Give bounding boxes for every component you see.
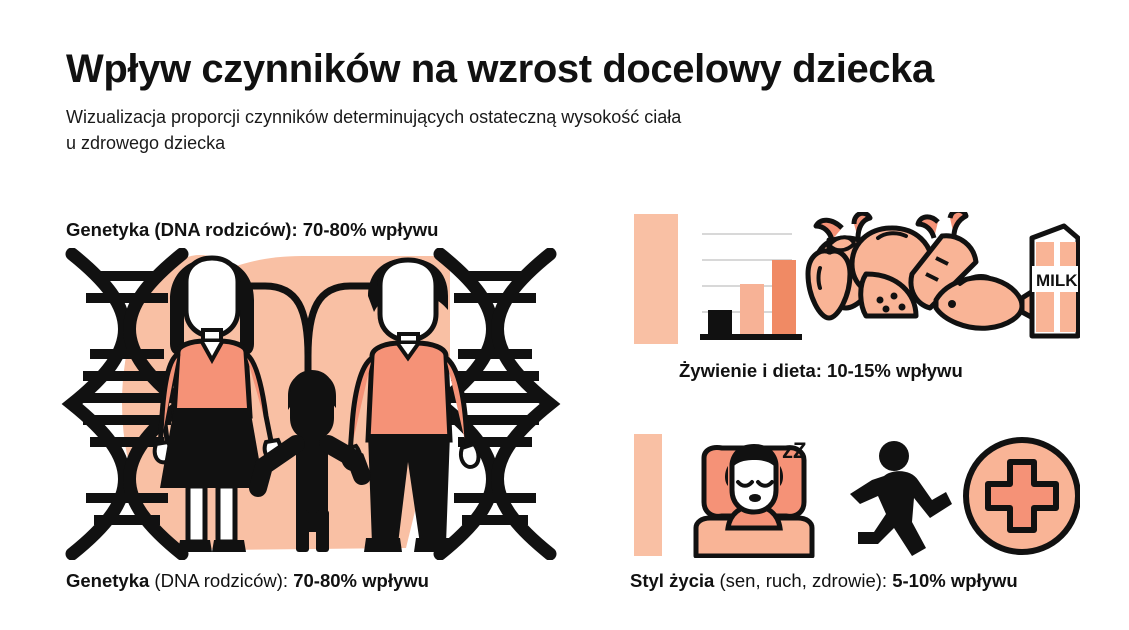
label-nutrition-text: Żywienie i dieta: 10-15% wpływu (679, 360, 963, 381)
nutrition-svg: MILK (630, 212, 1080, 352)
chart-bar-3 (772, 260, 796, 334)
lifestyle-proportion-bar (634, 434, 662, 556)
sleeping-child-icon: zZ (696, 438, 812, 556)
running-person-icon (850, 441, 952, 556)
milk-carton-icon: MILK (1032, 226, 1078, 336)
nutrition-inset-chart (700, 234, 802, 340)
label-lifestyle-tail: 5-10% wpływu (892, 570, 1017, 591)
chart-bar-2 (740, 284, 764, 334)
fish-icon (936, 276, 1044, 328)
illustration-lifestyle: zZ (630, 432, 1080, 558)
label-genetics-top-text: Genetyka (DNA rodziców): 70-80% wpływu (66, 219, 438, 240)
label-lifestyle: Styl życia (sen, ruch, zdrowie): 5-10% w… (630, 570, 1018, 592)
medical-cross-icon (966, 440, 1078, 552)
label-genetics-bottom-tail: 70-80% wpływu (293, 570, 429, 591)
illustration-nutrition: MILK (630, 212, 1080, 352)
label-genetics-bottom-mid: (DNA rodziców): (149, 570, 293, 591)
label-genetics-bottom-lead: Genetyka (66, 570, 149, 591)
label-nutrition: Żywienie i dieta: 10-15% wpływu (679, 360, 963, 382)
genetics-svg (50, 248, 570, 560)
page-subtitle: Wizualizacja proporcji czynników determi… (66, 105, 1076, 156)
label-lifestyle-mid: (sen, ruch, zdrowie): (714, 570, 892, 591)
nutrition-proportion-bar (634, 214, 678, 344)
subtitle-line-2: u zdrowego dziecka (66, 131, 1076, 157)
chart-bar-1 (708, 310, 732, 334)
infographic-page: Wpływ czynników na wzrost docelowy dziec… (0, 0, 1129, 630)
page-title: Wpływ czynników na wzrost docelowy dziec… (66, 48, 1076, 91)
label-genetics-top: Genetyka (DNA rodziców): 70-80% wpływu (66, 219, 438, 241)
label-lifestyle-lead: Styl życia (630, 570, 714, 591)
chart-baseline (700, 334, 802, 340)
label-genetics-bottom: Genetyka (DNA rodziców): 70-80% wpływu (66, 570, 429, 592)
milk-carton-label: MILK (1036, 271, 1078, 290)
sleep-zzz-label: zZ (782, 438, 806, 463)
subtitle-line-1: Wizualizacja proporcji czynników determi… (66, 105, 1076, 131)
lifestyle-svg: zZ (630, 432, 1080, 558)
header: Wpływ czynników na wzrost docelowy dziec… (66, 48, 1076, 156)
illustration-genetics (50, 248, 570, 560)
